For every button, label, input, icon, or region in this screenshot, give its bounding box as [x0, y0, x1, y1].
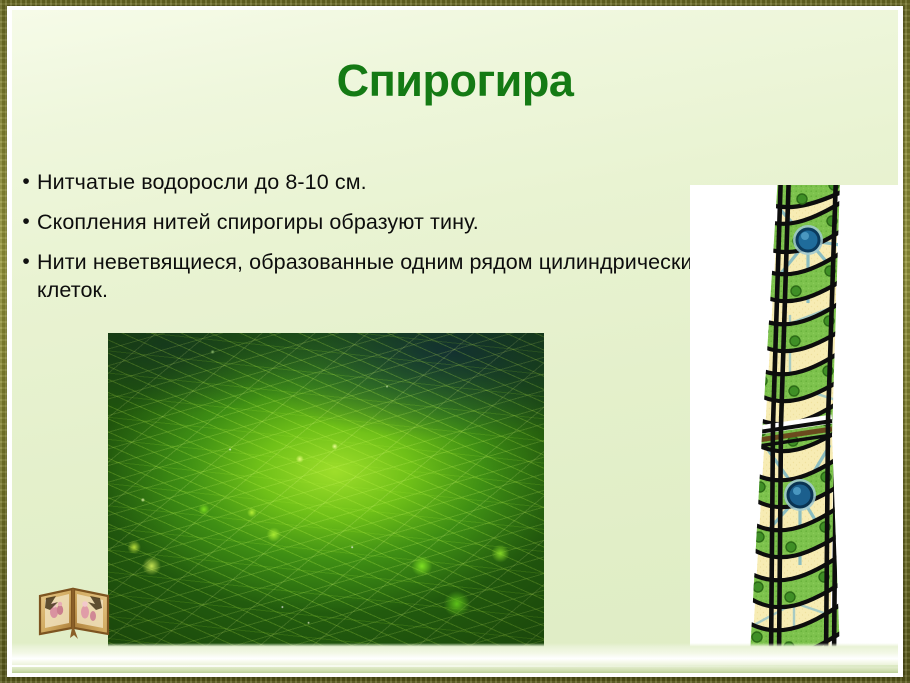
list-item: • Нити неветвящиеся, образованные одним … — [15, 248, 705, 304]
bullet-text: Нитчатые водоросли до 8-10 см. — [37, 168, 705, 196]
bullet-marker-icon: • — [15, 168, 37, 195]
bullet-marker-icon: • — [15, 208, 37, 235]
filament-image-panel — [690, 185, 898, 655]
bullet-marker-icon: • — [15, 248, 37, 275]
slide-frame: Спирогира • Нитчатые водоросли до 8-10 с… — [0, 0, 910, 683]
algae-vignette-layer — [108, 333, 544, 648]
nucleus — [784, 479, 816, 511]
bottom-decorative-band — [12, 643, 898, 673]
page-title: Спирогира — [12, 58, 898, 103]
algae-photograph — [108, 333, 544, 648]
bullet-text: Нити неветвящиеся, образованные одним ря… — [37, 248, 705, 304]
bullet-text: Скопления нитей спирогиры образуют тину. — [37, 208, 705, 236]
bullet-list: • Нитчатые водоросли до 8-10 см. • Скопл… — [15, 168, 705, 316]
open-book-icon — [36, 576, 112, 642]
nucleus — [793, 225, 823, 255]
spirogyra-filament-drawing — [690, 185, 898, 655]
slide-canvas: Спирогира • Нитчатые водоросли до 8-10 с… — [12, 10, 898, 673]
list-item: • Нитчатые водоросли до 8-10 см. — [15, 168, 705, 196]
list-item: • Скопления нитей спирогиры образуют тин… — [15, 208, 705, 236]
bottom-band-highlight-line — [12, 665, 898, 667]
